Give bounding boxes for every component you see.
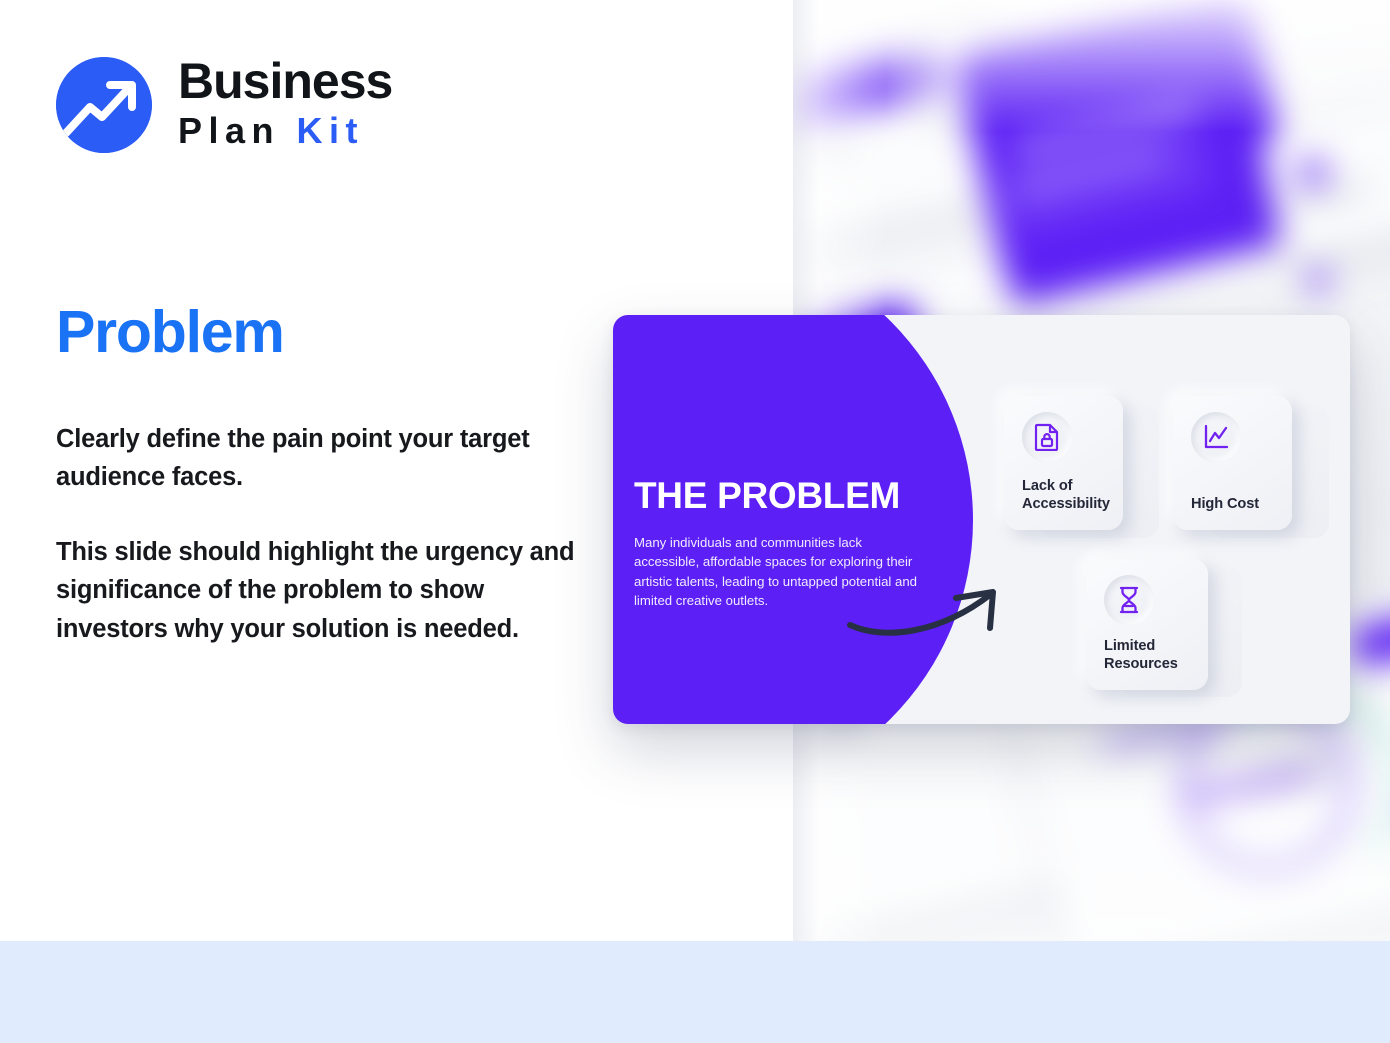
page-root: Business Plan Kit Problem Clearly define… bbox=[0, 0, 1390, 1043]
brand-logo: Business Plan Kit bbox=[56, 57, 392, 153]
slide-title: THE PROBLEM bbox=[634, 475, 900, 517]
feature-card-high-cost[interactable]: High Cost bbox=[1173, 396, 1292, 530]
trend-arrow-circle-icon bbox=[56, 57, 152, 153]
brand-name-line-1: Business bbox=[178, 57, 392, 106]
feature-card-label: High Cost bbox=[1191, 495, 1303, 513]
line-chart-icon bbox=[1191, 412, 1241, 462]
body-paragraph-2: This slide should highlight the urgency … bbox=[56, 533, 601, 648]
brand-name-kit: Kit bbox=[297, 110, 365, 151]
brand-name-line-2: Plan Kit bbox=[178, 108, 392, 153]
curved-arrow-up-right-icon bbox=[845, 583, 1010, 643]
feature-card-limited-resources[interactable]: Limited Resources bbox=[1086, 559, 1208, 690]
slide-purple-shape bbox=[613, 315, 973, 724]
feature-card-lack-of-accessibility[interactable]: Lack of Accessibility bbox=[1004, 396, 1123, 530]
brand-wordmark: Business Plan Kit bbox=[178, 57, 392, 153]
feature-card-label: Lack of Accessibility bbox=[1022, 477, 1134, 513]
page-title: Problem bbox=[56, 298, 284, 366]
document-lock-icon bbox=[1022, 412, 1072, 462]
feature-card-label: Limited Resources bbox=[1104, 637, 1216, 673]
hourglass-icon bbox=[1104, 575, 1154, 625]
bottom-accent-band bbox=[0, 941, 1390, 1043]
body-paragraph-1: Clearly define the pain point your targe… bbox=[56, 420, 586, 497]
brand-name-plan: Plan bbox=[178, 110, 297, 151]
